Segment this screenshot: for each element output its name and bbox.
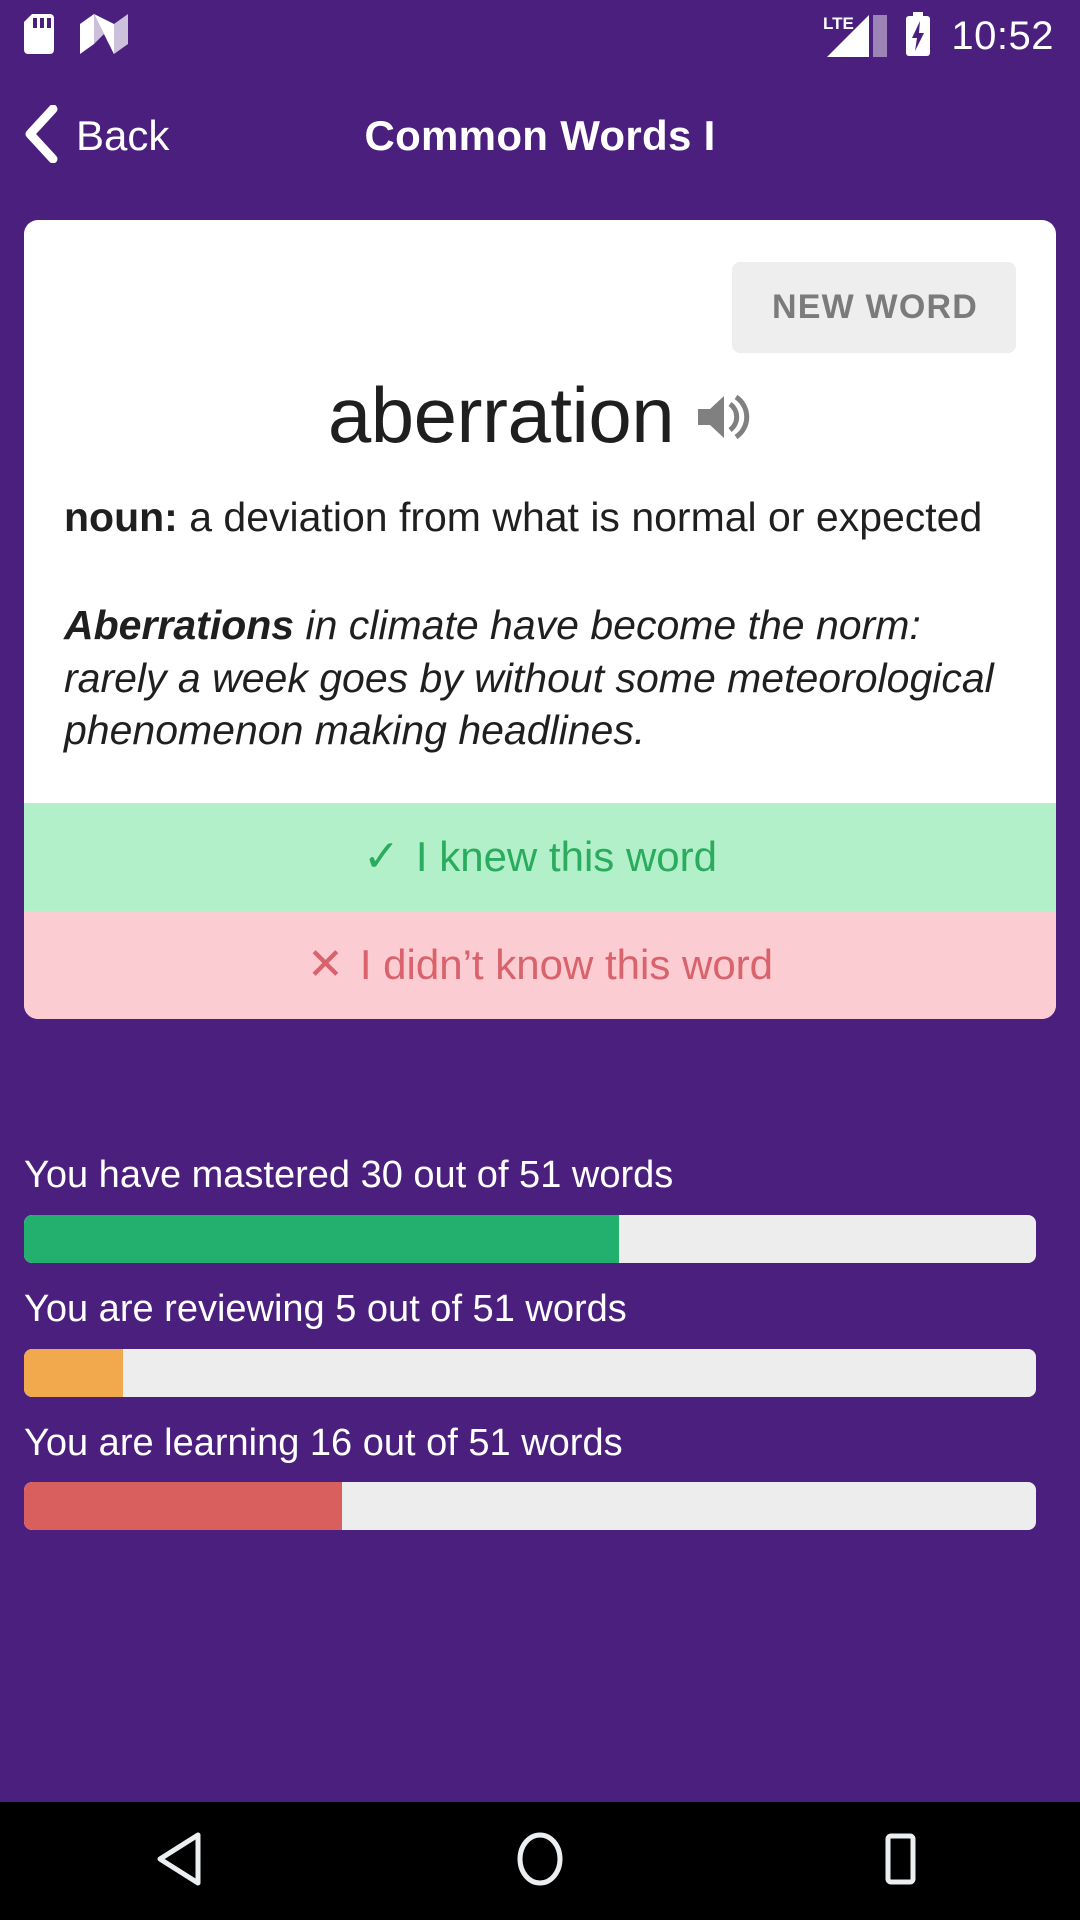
- volume-up-icon[interactable]: [696, 391, 752, 448]
- progress-mastered-fill: [24, 1215, 619, 1263]
- word-headline: aberration: [328, 375, 674, 457]
- android-nougat-icon: [80, 14, 128, 59]
- flashcard: NEW WORD aberration noun: a deviation fr…: [24, 220, 1056, 1019]
- progress-mastered: You have mastered 30 out of 51 words: [24, 1155, 1036, 1263]
- example-sentence: Aberrations in climate have become the n…: [64, 599, 1016, 756]
- battery-charging-icon: [905, 12, 931, 61]
- recents-square-icon: [874, 1831, 926, 1892]
- check-icon: ✓: [363, 835, 400, 879]
- progress-learning-fill: [24, 1482, 342, 1530]
- svg-text:LTE: LTE: [823, 14, 854, 33]
- status-bar-right-icons: LTE 10:52: [823, 12, 1054, 61]
- nav-home-button[interactable]: [450, 1802, 630, 1920]
- progress-reviewing-label: You are reviewing 5 out of 51 words: [24, 1289, 1036, 1331]
- progress-reviewing-fill: [24, 1349, 123, 1397]
- progress-section: You have mastered 30 out of 51 words You…: [24, 1155, 1036, 1556]
- app-bar: Back Common Words I: [0, 72, 1080, 200]
- didnt-know-word-label: I didn’t know this word: [360, 941, 773, 989]
- back-button-label: Back: [76, 115, 169, 157]
- back-triangle-icon: [154, 1831, 206, 1892]
- word-row: aberration: [64, 375, 1016, 457]
- progress-mastered-label: You have mastered 30 out of 51 words: [24, 1155, 1036, 1197]
- part-of-speech: noun:: [64, 494, 178, 540]
- didnt-know-word-button[interactable]: ✕ I didn’t know this word: [24, 911, 1056, 1019]
- definition-text: noun: a deviation from what is normal or…: [64, 491, 1016, 543]
- sd-card-icon: [24, 14, 54, 59]
- new-word-row: NEW WORD: [64, 262, 1016, 353]
- definition-body: a deviation from what is normal or expec…: [178, 494, 982, 540]
- lte-signal-icon: LTE: [823, 13, 889, 59]
- progress-reviewing: You are reviewing 5 out of 51 words: [24, 1289, 1036, 1397]
- progress-reviewing-track: [24, 1349, 1036, 1397]
- cross-icon: ✕: [307, 943, 344, 987]
- status-bar: LTE 10:52: [0, 0, 1080, 72]
- home-circle-icon: [514, 1831, 566, 1892]
- progress-learning-label: You are learning 16 out of 51 words: [24, 1423, 1036, 1465]
- flashcard-body: NEW WORD aberration noun: a deviation fr…: [24, 220, 1056, 803]
- status-bar-left-icons: [24, 14, 128, 59]
- android-navigation-bar: [0, 1802, 1080, 1920]
- progress-learning: You are learning 16 out of 51 words: [24, 1423, 1036, 1531]
- chevron-left-icon: [24, 105, 58, 168]
- knew-word-button[interactable]: ✓ I knew this word: [24, 803, 1056, 911]
- progress-learning-track: [24, 1482, 1036, 1530]
- back-button[interactable]: Back: [0, 95, 191, 178]
- new-word-button[interactable]: NEW WORD: [732, 262, 1016, 353]
- progress-mastered-track: [24, 1215, 1036, 1263]
- nav-recents-button[interactable]: [810, 1802, 990, 1920]
- status-bar-clock: 10:52: [951, 16, 1054, 56]
- knew-word-label: I knew this word: [416, 833, 717, 881]
- nav-back-button[interactable]: [90, 1802, 270, 1920]
- example-headword: Aberrations: [64, 602, 294, 648]
